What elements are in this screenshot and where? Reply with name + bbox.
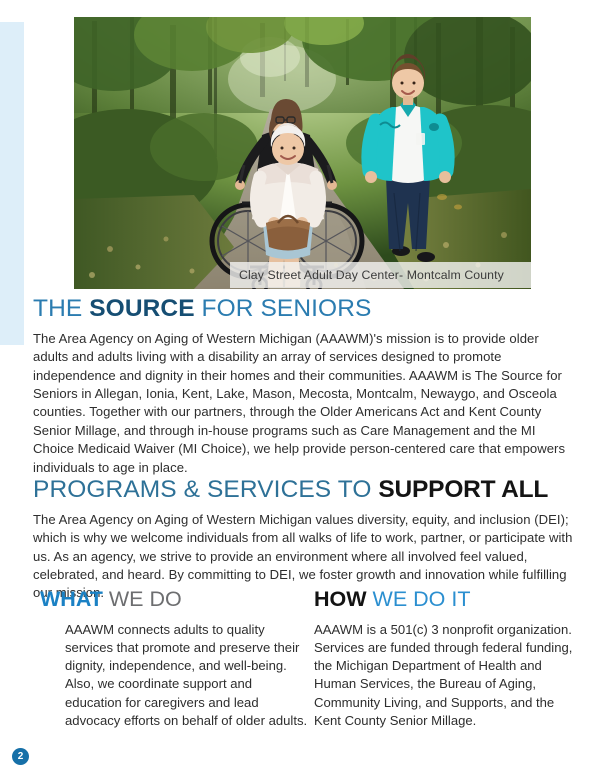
paragraph-what-we-do: AAAWM connects adults to quality service…: [40, 621, 310, 731]
paragraph-source-for-seniors: The Area Agency on Aging of Western Mich…: [33, 330, 573, 477]
heading-source-for-seniors: THE SOURCE FOR SENIORS: [33, 296, 573, 322]
hero-photo: Clay Street Adult Day Center- Montcalm C…: [74, 17, 531, 289]
column-what-we-do: WHAT WE DO AAAWM connects adults to qual…: [40, 589, 310, 730]
page-number-badge: 2: [12, 748, 29, 765]
two-column-section: WHAT WE DO AAAWM connects adults to qual…: [40, 589, 580, 730]
heading-source-accent: SOURCE: [89, 295, 194, 322]
heading-source-lead: THE: [33, 295, 89, 322]
heading-how-light: WE DO IT: [367, 587, 471, 611]
left-accent-band: [0, 22, 24, 345]
heading-programs-accent: SUPPORT ALL: [378, 476, 548, 503]
heading-how-strong: HOW: [314, 587, 367, 611]
heading-what-light: WE DO: [103, 587, 182, 611]
heading-what-we-do: WHAT WE DO: [40, 589, 310, 611]
article-content: THE SOURCE FOR SENIORS The Area Agency o…: [33, 296, 573, 603]
photo-caption-text: Clay Street Adult Day Center- Montcalm C…: [239, 268, 504, 282]
heading-how-we-do-it: HOW WE DO IT: [314, 589, 580, 611]
hero-photo-illustration: [74, 17, 531, 289]
heading-programs-services: PROGRAMS & SERVICES TO SUPPORT ALL: [33, 477, 573, 503]
heading-programs-lead: PROGRAMS & SERVICES TO: [33, 476, 378, 503]
heading-source-tail: FOR SENIORS: [195, 295, 372, 322]
column-how-we-do-it: HOW WE DO IT AAAWM is a 501(c) 3 nonprof…: [310, 589, 580, 730]
heading-what-strong: WHAT: [40, 587, 103, 611]
paragraph-how-we-do-it: AAAWM is a 501(c) 3 nonprofit organizati…: [314, 621, 580, 731]
photo-caption: Clay Street Adult Day Center- Montcalm C…: [230, 262, 531, 288]
